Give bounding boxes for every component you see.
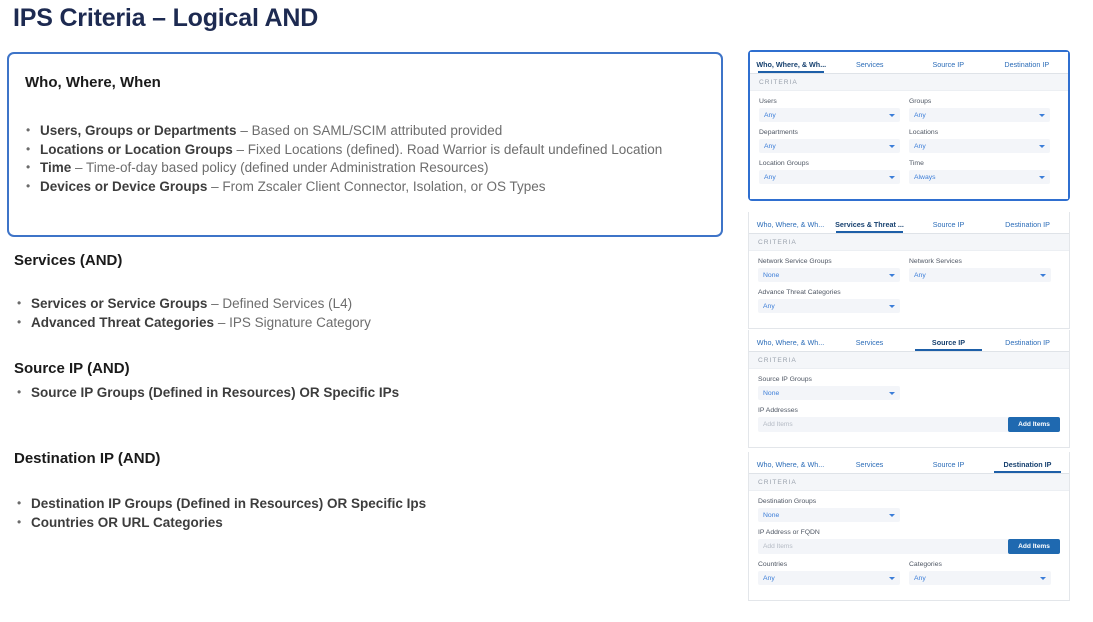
bullet-dot-icon: • (14, 295, 31, 313)
criteria-section-label: CRITERIA (749, 352, 1069, 369)
tab-who-where-wh[interactable]: Who, Where, & Wh... (752, 60, 831, 73)
chevron-down-icon (889, 577, 895, 580)
select-value: Any (914, 272, 926, 279)
field-label-network-services: Network Services (909, 258, 1051, 265)
bullet-term: Destination IP Groups (Defined in Resour… (31, 496, 426, 511)
bullet-item: •Destination IP Groups (Defined in Resou… (14, 495, 714, 513)
chevron-down-icon (1040, 274, 1046, 277)
field-spacer (909, 376, 1060, 400)
field-label-destination-groups: Destination Groups (758, 498, 900, 505)
chevron-down-icon (1039, 176, 1045, 179)
bullet-list-services: •Services or Service Groups – Defined Se… (14, 295, 714, 332)
chevron-down-icon (1039, 145, 1045, 148)
criteria-panel-who-where-when: Who, Where, & Wh...ServicesSource IPDest… (748, 50, 1070, 201)
bullet-item: •Countries OR URL Categories (14, 514, 714, 532)
criteria-section-label: CRITERIA (749, 474, 1069, 491)
input-row-ip-addresses: Add ItemsAdd Items (758, 417, 1060, 432)
bullet-term: Devices or Device Groups (40, 179, 207, 194)
field-grid: Network Service GroupsNoneNetwork Servic… (758, 258, 1060, 320)
select-network-services[interactable]: Any (909, 268, 1051, 282)
page-title: IPS Criteria – Logical AND (13, 4, 318, 33)
bullet-dot-icon: • (14, 514, 31, 532)
select-location-groups[interactable]: Any (759, 170, 900, 184)
bullet-item: •Devices or Device Groups – From Zscaler… (23, 178, 723, 196)
criteria-panel-source-ip: Who, Where, & Wh...ServicesSource IPDest… (748, 330, 1070, 448)
field-locations: LocationsAny (909, 129, 1059, 153)
select-groups[interactable]: Any (909, 108, 1050, 122)
bullet-term: Users, Groups or Departments (40, 123, 237, 138)
who-where-when-callout-box: Who, Where, When •Users, Groups or Depar… (7, 52, 723, 237)
chevron-down-icon (889, 305, 895, 308)
bullet-list-who-where-when: •Users, Groups or Departments – Based on… (23, 122, 723, 196)
bullet-text: Destination IP Groups (Defined in Resour… (31, 495, 714, 513)
select-categories[interactable]: Any (909, 571, 1051, 585)
section-heading-destination-ip: Destination IP (AND) (14, 450, 160, 467)
bullet-list-source-ip: •Source IP Groups (Defined in Resources)… (14, 384, 714, 403)
bullet-text: Time – Time-of-day based policy (defined… (40, 159, 723, 177)
chevron-down-icon (889, 392, 895, 395)
bullet-item: •Services or Service Groups – Defined Se… (14, 295, 714, 313)
chevron-down-icon (889, 176, 895, 179)
field-ip-address-or-fqdn: IP Address or FQDNAdd ItemsAdd Items (758, 529, 1060, 554)
panel-tabbar: Who, Where, & Wh...ServicesSource IPDest… (749, 330, 1069, 352)
section-heading-who-where-when: Who, Where, When (25, 74, 161, 91)
bullet-description: – Time-of-day based policy (defined unde… (71, 160, 488, 175)
select-value: Any (914, 143, 926, 150)
chevron-down-icon (889, 145, 895, 148)
chevron-down-icon (889, 114, 895, 117)
field-time: TimeAlways (909, 160, 1059, 184)
field-source-ip-groups: Source IP GroupsNone (758, 376, 909, 400)
bullet-term: Time (40, 160, 71, 175)
bullet-text: Services or Service Groups – Defined Ser… (31, 295, 714, 313)
select-value: Any (764, 112, 776, 119)
bullet-term: Source IP Groups (Defined in Resources) … (31, 385, 399, 400)
tab-destination-ip[interactable]: Destination IP (988, 460, 1067, 473)
field-location-groups: Location GroupsAny (759, 160, 909, 184)
chevron-down-icon (889, 514, 895, 517)
policy-rule-panels: Who, Where, & Wh...ServicesSource IPDest… (748, 0, 1078, 622)
bullet-description: – Fixed Locations (defined). Road Warrio… (233, 142, 663, 157)
slide-content-left: IPS Criteria – Logical AND Who, Where, W… (0, 0, 745, 622)
criteria-panel-destination-ip: Who, Where, & Wh...ServicesSource IPDest… (748, 452, 1070, 601)
tab-destination-ip[interactable]: Destination IP (988, 220, 1067, 233)
panel-tabbar: Who, Where, & Wh...ServicesSource IPDest… (749, 452, 1069, 474)
select-value: Any (764, 143, 776, 150)
field-label-network-service-groups: Network Service Groups (758, 258, 900, 265)
tab-destination-ip[interactable]: Destination IP (988, 60, 1067, 73)
add-items-button[interactable]: Add Items (1008, 539, 1060, 554)
field-network-services: Network ServicesAny (909, 258, 1060, 282)
input-row-ip-address-or-fqdn: Add ItemsAdd Items (758, 539, 1060, 554)
field-groups: GroupsAny (909, 98, 1059, 122)
tab-services[interactable]: Services (830, 460, 909, 473)
panel-body: Source IP GroupsNoneIP AddressesAdd Item… (749, 369, 1069, 447)
add-items-button[interactable]: Add Items (1008, 417, 1060, 432)
select-value: Any (764, 174, 776, 181)
select-locations[interactable]: Any (909, 139, 1050, 153)
select-value: Any (914, 575, 926, 582)
bullet-description: – IPS Signature Category (214, 315, 371, 330)
bullet-item: •Locations or Location Groups – Fixed Lo… (23, 141, 723, 159)
field-network-service-groups: Network Service GroupsNone (758, 258, 909, 282)
field-label-ip-address-or-fqdn: IP Address or FQDN (758, 529, 1060, 536)
field-countries: CountriesAny (758, 561, 909, 585)
field-departments: DepartmentsAny (759, 129, 909, 153)
bullet-dot-icon: • (14, 384, 31, 402)
tab-source-ip[interactable]: Source IP (909, 60, 988, 73)
field-grid: UsersAnyGroupsAnyDepartmentsAnyLocations… (759, 98, 1059, 191)
panel-body: Destination GroupsNoneIP Address or FQDN… (749, 491, 1069, 600)
bullet-item: •Advanced Threat Categories – IPS Signat… (14, 314, 714, 332)
bullet-term: Advanced Threat Categories (31, 315, 214, 330)
bullet-term: Locations or Location Groups (40, 142, 233, 157)
select-network-service-groups[interactable]: None (758, 268, 900, 282)
bullet-text: Advanced Threat Categories – IPS Signatu… (31, 314, 714, 332)
bullet-dot-icon: • (23, 122, 40, 140)
tab-destination-ip[interactable]: Destination IP (988, 338, 1067, 351)
chevron-down-icon (1039, 114, 1045, 117)
bullet-text: Locations or Location Groups – Fixed Loc… (40, 141, 723, 159)
select-advance-threat-categories[interactable]: Any (758, 299, 900, 313)
section-heading-services: Services (AND) (14, 252, 122, 269)
field-label-advance-threat-categories: Advance Threat Categories (758, 289, 900, 296)
section-heading-source-ip: Source IP (AND) (14, 360, 130, 377)
select-value: None (763, 512, 779, 519)
bullet-list-destination-ip: •Destination IP Groups (Defined in Resou… (14, 495, 714, 532)
bullet-item: •Source IP Groups (Defined in Resources)… (14, 384, 714, 402)
field-label-locations: Locations (909, 129, 1050, 136)
tab-services[interactable]: Services (831, 60, 910, 73)
panel-body: Network Service GroupsNoneNetwork Servic… (749, 251, 1069, 328)
bullet-text: Countries OR URL Categories (31, 514, 714, 532)
bullet-item: •Time – Time-of-day based policy (define… (23, 159, 723, 177)
bullet-text: Devices or Device Groups – From Zscaler … (40, 178, 723, 196)
select-destination-groups[interactable]: None (758, 508, 900, 522)
select-value: Any (763, 303, 775, 310)
bullet-item: •Users, Groups or Departments – Based on… (23, 122, 723, 140)
field-categories: CategoriesAny (909, 561, 1060, 585)
bullet-text: Users, Groups or Departments – Based on … (40, 122, 723, 140)
tab-services[interactable]: Services (830, 338, 909, 351)
field-label-source-ip-groups: Source IP Groups (758, 376, 900, 383)
panel-body: UsersAnyGroupsAnyDepartmentsAnyLocations… (750, 91, 1068, 199)
field-label-location-groups: Location Groups (759, 160, 900, 167)
field-advance-threat-categories: Advance Threat CategoriesAny (758, 289, 909, 313)
field-label-ip-addresses: IP Addresses (758, 407, 1060, 414)
field-grid: Destination GroupsNoneIP Address or FQDN… (758, 498, 1060, 592)
panel-tabbar: Who, Where, & Wh...ServicesSource IPDest… (750, 52, 1068, 74)
bullet-dot-icon: • (14, 495, 31, 513)
field-label-departments: Departments (759, 129, 900, 136)
bullet-dot-icon: • (23, 178, 40, 196)
tab-source-ip[interactable]: Source IP (909, 460, 988, 473)
criteria-section-label: CRITERIA (749, 234, 1069, 251)
bullet-term: Services or Service Groups (31, 296, 207, 311)
select-value: Any (914, 112, 926, 119)
select-countries[interactable]: Any (758, 571, 900, 585)
criteria-panel-services-threat: Who, Where, & Wh...Services & Threat ...… (748, 212, 1070, 329)
tab-services-threat[interactable]: Services & Threat ... (830, 220, 909, 233)
bullet-term: Countries OR URL Categories (31, 515, 223, 530)
tab-source-ip[interactable]: Source IP (909, 338, 988, 351)
field-label-users: Users (759, 98, 900, 105)
field-label-categories: Categories (909, 561, 1051, 568)
field-users: UsersAny (759, 98, 909, 122)
bullet-description: – From Zscaler Client Connector, Isolati… (207, 179, 545, 194)
field-label-time: Time (909, 160, 1050, 167)
field-spacer (909, 498, 1060, 522)
select-value: Any (763, 575, 775, 582)
tab-who-where-wh[interactable]: Who, Where, & Wh... (751, 220, 830, 233)
bullet-dot-icon: • (23, 141, 40, 159)
field-destination-groups: Destination GroupsNone (758, 498, 909, 522)
bullet-dot-icon: • (14, 314, 31, 332)
criteria-section-label: CRITERIA (750, 74, 1068, 91)
bullet-dot-icon: • (23, 159, 40, 177)
field-label-groups: Groups (909, 98, 1050, 105)
select-time[interactable]: Always (909, 170, 1050, 184)
field-grid: Source IP GroupsNoneIP AddressesAdd Item… (758, 376, 1060, 439)
chevron-down-icon (1040, 577, 1046, 580)
select-source-ip-groups[interactable]: None (758, 386, 900, 400)
tab-who-where-wh[interactable]: Who, Where, & Wh... (751, 460, 830, 473)
bullet-description: – Based on SAML/SCIM attributed provided (237, 123, 503, 138)
chevron-down-icon (889, 274, 895, 277)
select-value: None (763, 272, 779, 279)
select-departments[interactable]: Any (759, 139, 900, 153)
panel-tabbar: Who, Where, & Wh...Services & Threat ...… (749, 212, 1069, 234)
tab-source-ip[interactable]: Source IP (909, 220, 988, 233)
field-ip-addresses: IP AddressesAdd ItemsAdd Items (758, 407, 1060, 432)
select-value: None (763, 390, 779, 397)
select-value: Always (914, 174, 936, 181)
tab-who-where-wh[interactable]: Who, Where, & Wh... (751, 338, 830, 351)
bullet-text: Source IP Groups (Defined in Resources) … (31, 384, 714, 402)
bullet-description: – Defined Services (L4) (207, 296, 352, 311)
field-label-countries: Countries (758, 561, 900, 568)
select-users[interactable]: Any (759, 108, 900, 122)
